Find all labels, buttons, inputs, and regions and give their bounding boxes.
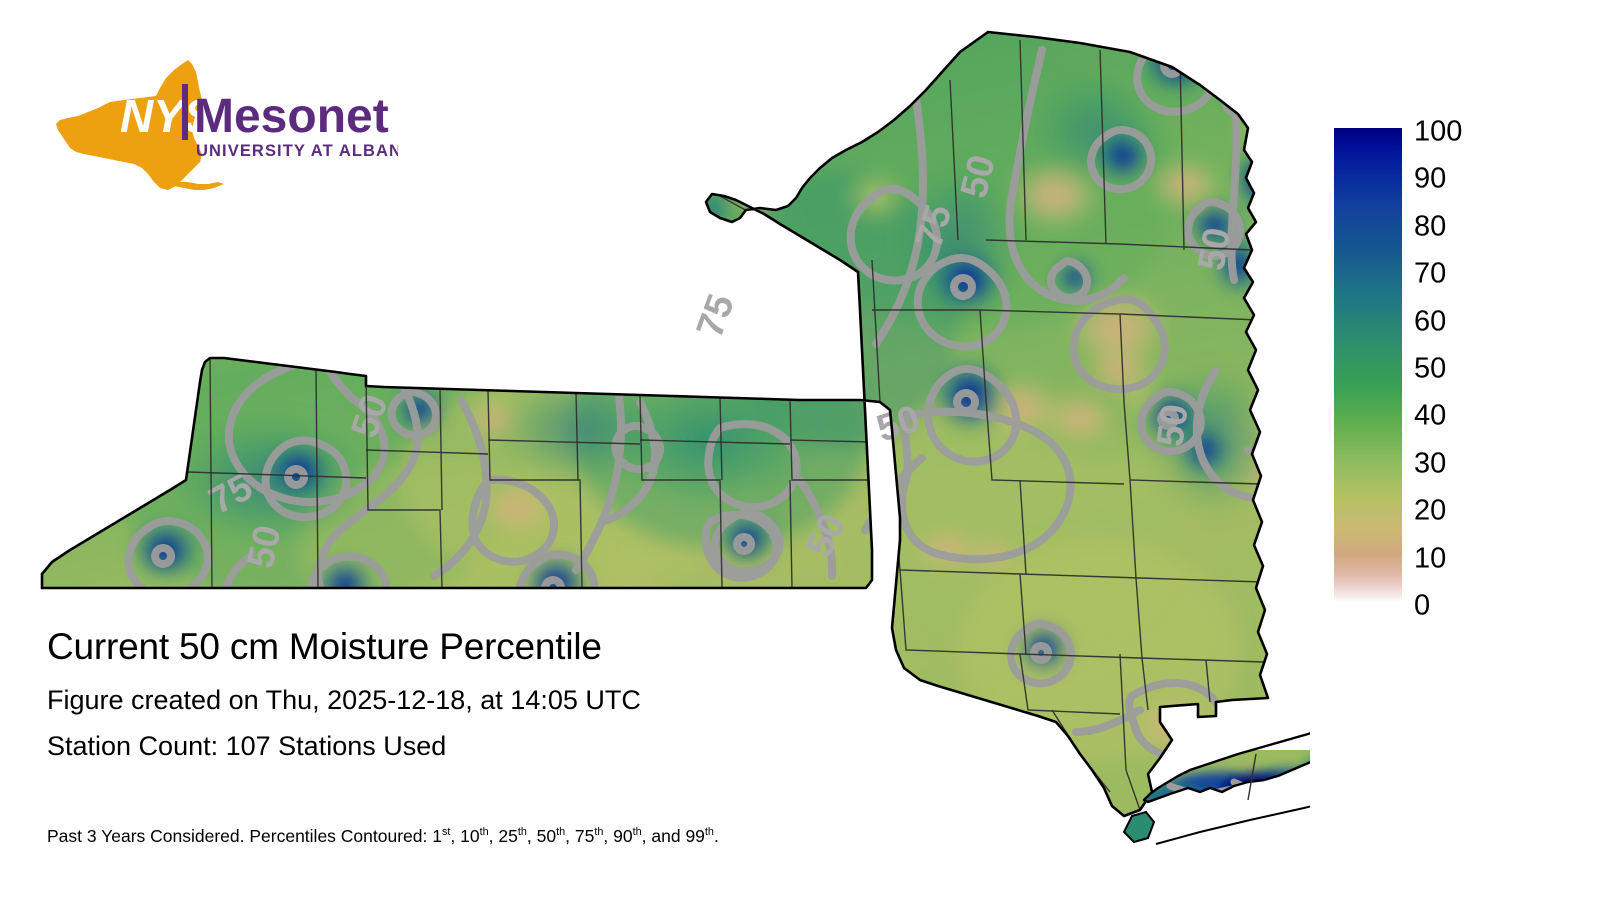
footnote-percentile-90: 90th: [613, 826, 642, 846]
colorbar-gradient: [1334, 128, 1402, 602]
footnote-ordinal-suffix: th: [556, 826, 565, 838]
colorbar-tick-100: 100: [1414, 118, 1462, 147]
station-count-line: Station Count: 107 Stations Used: [47, 733, 1047, 760]
colorbar-tick-70: 70: [1414, 260, 1446, 289]
footnote-separator: ,: [450, 826, 460, 846]
contour-label-50: 50: [1149, 402, 1196, 450]
footnote-separator: ,: [565, 826, 575, 846]
footnote-ordinal-suffix: th: [633, 826, 642, 838]
footnote-percentile-99: 99th: [685, 826, 714, 846]
footnote-terminator: .: [714, 826, 719, 846]
footnote-percentile-50: 50th: [537, 826, 566, 846]
logo-divider: [182, 84, 188, 140]
logo-long-island-shape: [174, 182, 224, 190]
colorbar-tick-80: 80: [1414, 212, 1446, 241]
colorbar-tick-90: 90: [1414, 165, 1446, 194]
footnote-ordinal-suffix: th: [480, 826, 489, 838]
staten-island: [1124, 812, 1154, 842]
colorbar-tick-0: 0: [1414, 592, 1430, 621]
footnote-separator: ,: [603, 826, 613, 846]
footnote-separator: ,: [642, 826, 652, 846]
contour-label-75: 75: [689, 289, 743, 343]
footnote-percentile-10: 10th: [460, 826, 489, 846]
logo-tagline-text: UNIVERSITY AT ALBANY: [196, 142, 398, 160]
footnote-separator: ,: [527, 826, 537, 846]
contour-label-50: 50: [240, 522, 290, 572]
figure-title: Current 50 cm Moisture Percentile: [47, 628, 1047, 667]
colorbar-tick-20: 20: [1414, 497, 1446, 526]
footnote-line: Past 3 Years Considered. Percentiles Con…: [47, 828, 719, 846]
nys-mesonet-logo: NYS Mesonet UNIVERSITY AT ALBANY: [48, 58, 398, 198]
colorbar-tick-50: 50: [1414, 355, 1446, 384]
colorbar-tick-60: 60: [1414, 307, 1446, 336]
footnote-conjunction: and: [651, 826, 685, 846]
footnote-separator: ,: [489, 826, 499, 846]
footnote-percentile-25: 25th: [498, 826, 527, 846]
footnote-percentile-1: 1st: [432, 826, 450, 846]
colorbar-tick-10: 10: [1414, 544, 1446, 573]
colorbar-tick-labels: 1009080706050403020100: [1414, 128, 1534, 602]
footnote-percentile-75: 75th: [575, 826, 604, 846]
caption-block: Current 50 cm Moisture Percentile Figure…: [47, 628, 1047, 779]
footnote-ordinal-suffix: th: [705, 826, 714, 838]
colorbar-tick-40: 40: [1414, 402, 1446, 431]
footnote-ordinal-suffix: th: [518, 826, 527, 838]
colorbar: 1009080706050403020100: [1334, 128, 1584, 608]
logo-mesonet-text: Mesonet: [194, 90, 389, 143]
colorbar-tick-30: 30: [1414, 449, 1446, 478]
figure-created-line: Figure created on Thu, 2025-12-18, at 14…: [47, 687, 1047, 714]
footnote-lead: Past 3 Years Considered. Percentiles Con…: [47, 826, 432, 846]
